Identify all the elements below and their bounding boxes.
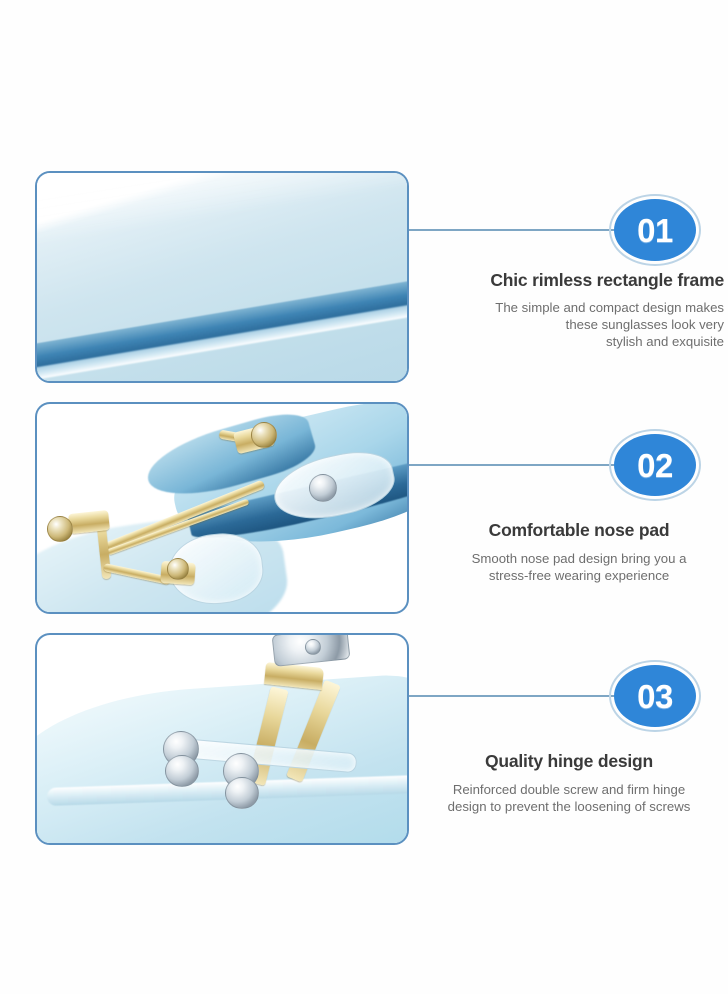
hinge-pivot-screw [305,639,321,655]
screw-lower-rear [225,777,259,809]
badge-number-02: 02 [637,449,673,482]
text-block-03: Quality hinge design Reinforced double s… [414,751,724,815]
badge-number-03: 03 [637,680,673,713]
badge-01: 01 [609,194,701,266]
badge-disc-03: 03 [614,665,696,727]
text-block-01: Chic rimless rectangle frame The simple … [424,270,724,350]
photo-content [37,173,407,381]
connector-line-01 [409,229,616,231]
feature-body-line: Reinforced double screw and firm hinge [414,781,724,798]
endpiece-left-shape [68,510,110,534]
badge-disc-01: 01 [614,199,696,261]
feature-body-line: The simple and compact design makes [424,299,724,316]
screw-pad-right [309,474,337,502]
photo-content [37,404,407,612]
infographic-canvas: 01 Chic rimless rectangle frame The simp… [0,0,728,994]
lens-edge-photo [35,171,409,383]
feature-body-line: design to prevent the loosening of screw… [414,798,724,815]
feature-heading-02: Comfortable nose pad [434,520,724,541]
feature-block-03: 03 Quality hinge design Reinforced doubl… [0,633,728,845]
connector-line-03 [409,695,616,697]
badge-number-01: 01 [637,214,673,247]
connector-line-02 [409,464,616,466]
feature-body-line: stress-free wearing experience [434,567,724,584]
screw-lower-front [165,755,199,787]
feature-block-01: 01 Chic rimless rectangle frame The simp… [0,171,728,383]
text-block-02: Comfortable nose pad Smooth nose pad des… [434,520,724,584]
feature-block-02: 02 Comfortable nose pad Smooth nose pad … [0,402,728,614]
screw-left [47,516,73,542]
photo-content [37,635,407,843]
feature-heading-01: Chic rimless rectangle frame [424,270,724,291]
badge-02: 02 [609,429,701,501]
nose-pad-photo [35,402,409,614]
badge-03: 03 [609,660,701,732]
feature-body-line: stylish and exquisite [424,333,724,350]
feature-body-line: Smooth nose pad design bring you a [434,550,724,567]
screw-top-right [251,422,277,448]
feature-body-line: these sunglasses look very [424,316,724,333]
badge-disc-02: 02 [614,434,696,496]
hinge-photo [35,633,409,845]
feature-heading-03: Quality hinge design [414,751,724,772]
screw-bottom [167,558,189,580]
